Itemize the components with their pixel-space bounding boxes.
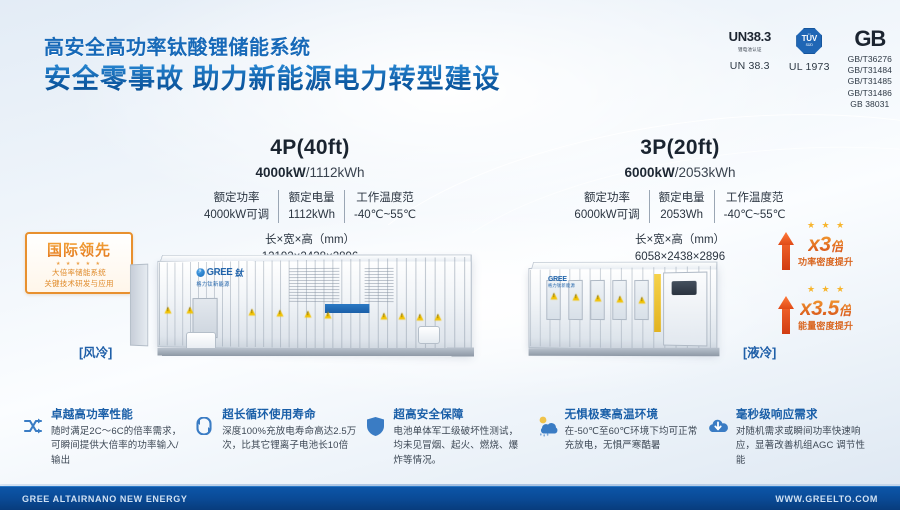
container-endcap — [130, 264, 148, 347]
page-title: 安全零事故 助力新能源电力转型建设 — [44, 62, 501, 97]
arrow-up-icon — [778, 232, 794, 270]
award-badge-subtext: 大倍率储能系统 关键技术研发与应用 — [27, 268, 131, 290]
feature-item-millisecond-response: 毫秒级响应需求 对随机需求或瞬间功率快速响应，显著改善机组AGC 调节性能 — [707, 408, 878, 468]
cooling-tag-air: [风冷] — [79, 342, 112, 361]
award-badge-international-leading: 国际领先 ★ ★ ★ ★ ★ 大倍率储能系统 关键技术研发与应用 — [25, 232, 133, 294]
callout-stars: ★ ★ ★ — [800, 221, 853, 230]
award-badge-stars: ★ ★ ★ ★ ★ — [27, 262, 131, 267]
gree-bolt-icon — [196, 268, 204, 277]
product-image-4p-40ft-container: GREE 钛 格力钛新能源 — [128, 252, 484, 364]
feature-heading: 超高安全保障 — [393, 408, 527, 423]
container-blue-label — [325, 304, 369, 313]
container-brand-logo-3p: GREE 格力钛新能源 — [548, 274, 615, 289]
container-brand-logo-4p: GREE 钛 格力钛新能源 — [196, 266, 285, 288]
feature-heading: 毫秒级响应需求 — [736, 408, 870, 423]
feature-strip: 卓越高功率性能 随时满足2C～6C的倍率需求，可瞬间提供大倍率的功率输入/输出 … — [0, 408, 900, 468]
gb-standard-item: GB/T31485 — [848, 76, 892, 87]
product-model-4p: 4P(40ft) — [158, 136, 462, 160]
container-vent-louvre — [289, 268, 339, 302]
feature-heading: 无惧极寒高温环境 — [565, 408, 699, 423]
gb-standard-item: GB/T31486 — [848, 88, 892, 99]
spec-cell-rated-energy: 额定电量 1112kWh — [278, 190, 344, 223]
spec-cell-temp-range: 工作温度范 -40℃~55℃ — [344, 190, 425, 223]
container-vent-louvre — [365, 268, 394, 302]
product-spec-4p-40ft: 4P(40ft) 4000kW/1112kWh 额定功率 4000kW可调 额定… — [158, 136, 462, 266]
spec-table-3p: 额定功率 6000kW可调 额定电量 2053Wh 工作温度范 -40℃~55℃ — [528, 190, 832, 223]
callout-label: 功率密度提升 — [798, 257, 853, 268]
gb-icon: GB — [854, 28, 885, 50]
feature-body: 对随机需求或瞬间功率快速响应，显著改善机组AGC 调节性能 — [736, 425, 870, 468]
feature-item-cycle-life: 超长循环使用寿命 深度100%充放电寿命高达2.5万次，比其它锂离子电池长10倍 — [193, 408, 364, 468]
certification-gb-standards: GB GB/T36276 GB/T31484 GB/T31485 GB/T314… — [848, 28, 892, 110]
spec-cell-temp-range: 工作温度范 -40℃~55℃ — [714, 190, 795, 223]
footer-bar: GREE ALTAIRNANO NEW ENERGY WWW.GREELTO.C… — [0, 486, 900, 510]
certification-un38-3: UN38.3 锂电池认证 UN 38.3 — [729, 28, 771, 72]
certification-ul1973-label: UL 1973 — [789, 61, 830, 73]
container-hvac-unit — [418, 326, 440, 344]
feature-body: 随时满足2C～6C的倍率需求，可瞬间提供大倍率的功率输入/输出 — [51, 425, 185, 468]
feature-heading: 超长循环使用寿命 — [222, 408, 356, 423]
callout-stars: ★ ★ ★ — [800, 285, 853, 294]
gb-standard-item: GB/T31484 — [848, 65, 892, 76]
product-model-3p: 3P(20ft) — [528, 136, 832, 160]
feature-heading: 卓越高功率性能 — [51, 408, 185, 423]
un38-3-icon: UN38.3 锂电池认证 — [729, 28, 771, 53]
certification-ul1973: TÜV SÜD UL 1973 — [789, 28, 830, 73]
container-base-frame — [529, 348, 720, 356]
shuffle-icon — [22, 413, 44, 439]
footer-company-name: GREE ALTAIRNANO NEW ENERGY — [22, 494, 187, 504]
callout-energy-density: ★ ★ ★ x3.5倍 能量密度提升 — [778, 296, 853, 334]
spec-cell-rated-power: 额定功率 4000kW可调 — [195, 190, 278, 223]
gb-standards-list: GB/T36276 GB/T31484 GB/T31485 GB/T31486 … — [848, 54, 892, 110]
tuv-icon: TÜV SÜD — [796, 28, 822, 54]
feature-item-high-power: 卓越高功率性能 随时满足2C～6C的倍率需求，可瞬间提供大倍率的功率输入/输出 — [22, 408, 193, 468]
product-image-3p-20ft-container: GREE 格力钛新能源 — [510, 256, 748, 364]
weather-cloud-sun-icon — [536, 413, 558, 439]
callout-multiplier-value: x3倍 — [808, 233, 843, 256]
feature-body: 深度100%充放电寿命高达2.5万次，比其它锂离子电池长10倍 — [222, 425, 356, 454]
callout-label: 能量密度提升 — [798, 321, 853, 332]
feature-body: 电池单体军工级破坏性测试，均未见冒烟、起火、燃烧、爆炸等情况。 — [393, 425, 527, 468]
footer-website-url[interactable]: WWW.GREELTO.COM — [775, 494, 878, 504]
feature-item-temperature: 无惧极寒高温环境 在-50℃至60℃环境下均可正常充放电，无惧严寒酷暑 — [536, 408, 707, 468]
shield-icon — [364, 413, 386, 439]
callout-power-density: ★ ★ ★ x3倍 功率密度提升 — [778, 232, 853, 270]
container-yellow-strip — [654, 274, 661, 332]
certification-un38-3-label: UN 38.3 — [729, 60, 771, 72]
header-title-block: 高安全高功率钛酸锂储能系统 安全零事故 助力新能源电力转型建设 — [44, 36, 501, 97]
cycle-refresh-icon — [193, 413, 215, 439]
page-subtitle: 高安全高功率钛酸锂储能系统 — [44, 36, 501, 61]
product-capacity-4p: 4000kW/1112kWh — [158, 165, 462, 180]
cloud-download-icon — [707, 413, 729, 439]
feature-body: 在-50℃至60℃环境下均可正常充放电，无惧严寒酷暑 — [565, 425, 699, 454]
certification-badge-group: UN38.3 锂电池认证 UN 38.3 TÜV SÜD UL 1973 GB … — [729, 28, 892, 110]
container-base-frame — [158, 348, 474, 357]
callout-multiplier-value: x3.5倍 — [800, 297, 851, 320]
poster-canvas: 高安全高功率钛酸锂储能系统 安全零事故 助力新能源电力转型建设 UN38.3 锂… — [0, 0, 900, 510]
gb-standard-item: GB 38031 — [848, 99, 892, 110]
spec-table-4p: 额定功率 4000kW可调 额定电量 1112kWh 工作温度范 -40℃~55… — [158, 190, 462, 223]
gb-standard-item: GB/T36276 — [848, 54, 892, 65]
product-capacity-3p: 6000kW/2053kWh — [528, 165, 832, 180]
spec-cell-rated-energy: 额定电量 2053Wh — [649, 190, 714, 223]
spec-cell-rated-power: 额定功率 6000kW可调 — [565, 190, 648, 223]
container-control-cabinet — [663, 272, 707, 347]
arrow-up-icon — [778, 296, 794, 334]
award-badge-headline: 国际领先 — [27, 239, 131, 260]
feature-item-safety: 超高安全保障 电池单体军工级破坏性测试，均未见冒烟、起火、燃烧、爆炸等情况。 — [364, 408, 535, 468]
cabinet-display-screen — [672, 281, 697, 295]
